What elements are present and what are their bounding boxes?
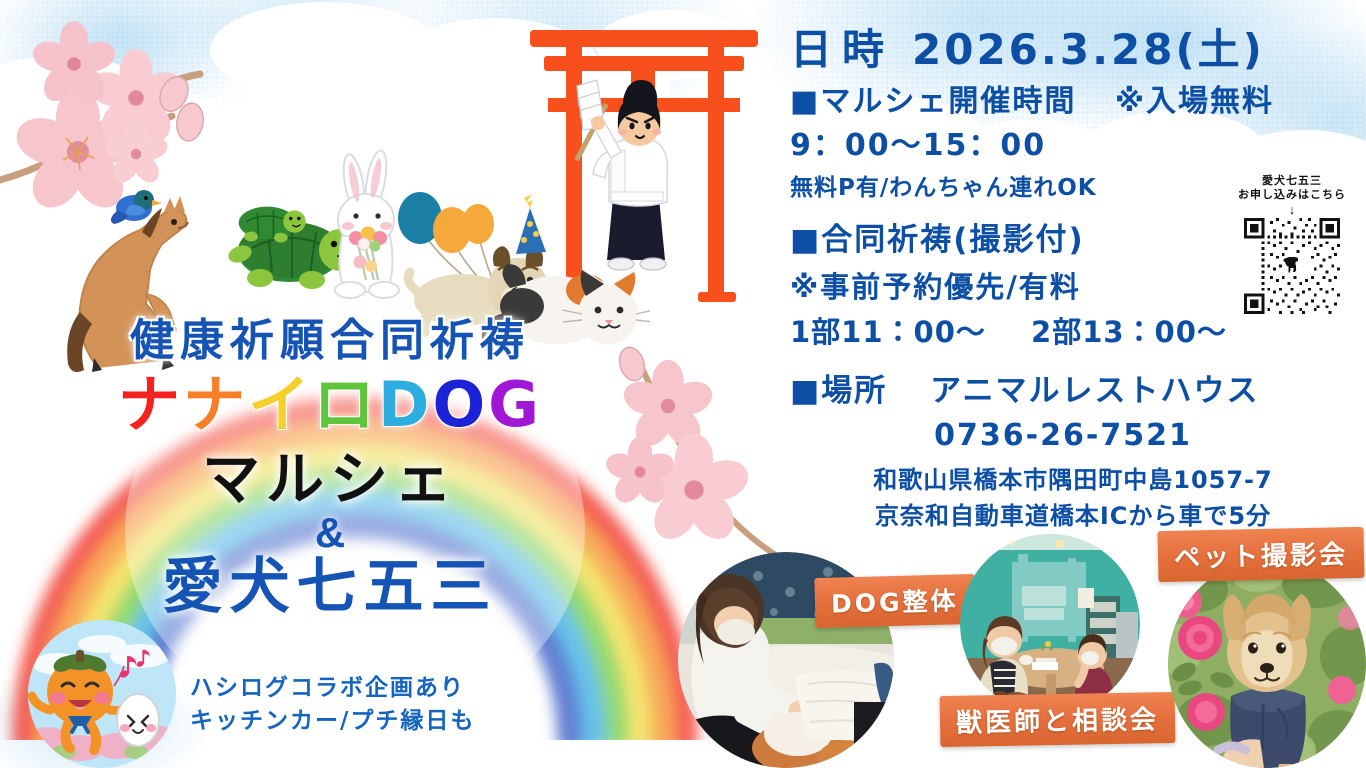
free-entry-note: ※入場無料 (1115, 84, 1274, 119)
qr-caption-line1: 愛犬七五三 (1228, 174, 1356, 188)
kito-parts-row: 1部11：00〜 2部13：00〜 (790, 312, 1366, 353)
ribbon-pet-photo: ペット撮影会 (1157, 527, 1364, 582)
marche-heading-row: ■マルシェ開催時間 ※入場無料 (790, 80, 1366, 124)
datetime-label: 日時 (790, 25, 894, 74)
kito-part1: 1部11：00〜 (790, 315, 986, 349)
qr-code-block[interactable]: 愛犬七五三 お申し込みはこちら ↓ (1228, 174, 1356, 314)
title-nanairo-dog: ナナイロDOG (0, 374, 660, 436)
ribbon-vet-consult: 獣医師と相談会 (940, 692, 1176, 747)
collab-note: ハシログコラボ企画あり キッチンカー/プチ縁日も (190, 672, 475, 739)
collab-note-line2: キッチンカー/プチ縁日も (190, 705, 475, 738)
title-kenkou-kigan: 健康祈願合同祈祷 (0, 318, 660, 364)
place-name: アニマルレストハウス (930, 373, 1259, 409)
nanairo-char-0: ナ (118, 368, 183, 441)
place-row: ■場所 アニマルレストハウス (790, 369, 1366, 414)
nanairo-char-5: O (432, 368, 488, 441)
telephone-number: 0736-26-7521 (790, 416, 1366, 455)
nanairo-char-1: ナ (183, 368, 248, 441)
place-label: ■場所 (790, 373, 887, 409)
qr-caption-line2: お申し込みはこちら (1228, 188, 1356, 202)
datetime-value: 2026.3.28(土) (912, 25, 1265, 74)
kito-part2: 2部13：00〜 (1031, 315, 1227, 349)
marche-heading: ■マルシェ開催時間 (790, 84, 1076, 119)
ribbon-dog-seitai: DOG整体 (814, 574, 975, 628)
main-title-block: 健康祈願合同祈祷 ナナイロDOG マルシェ & 愛犬七五三 (0, 318, 660, 619)
mascot-badge (28, 620, 176, 768)
photo-vet-consult (960, 534, 1140, 714)
nanairo-char-3: ロ (313, 368, 378, 441)
photo-pet-photo-session (1168, 560, 1366, 768)
title-ampersand: & (0, 512, 660, 554)
qr-code-image[interactable] (1244, 218, 1340, 314)
event-poster: 健康祈願合同祈祷 ナナイロDOG マルシェ & 愛犬七五三 ハシログコラボ企画あ… (0, 0, 1366, 768)
nanairo-char-4: D (378, 368, 432, 441)
nanairo-char-6: G (488, 368, 542, 441)
nanairo-char-2: イ (248, 368, 313, 441)
address-line: 和歌山県橋本市隅田町中島1057-7 (790, 463, 1366, 498)
title-marche: マルシェ (0, 450, 660, 508)
collab-note-line1: ハシログコラボ企画あり (190, 672, 475, 705)
datetime-row: 日時2026.3.28(土) (790, 26, 1366, 74)
down-arrow-icon: ↓ (1228, 203, 1356, 216)
marche-hours: 9：00〜15：00 (790, 126, 1366, 167)
title-aiken-shichigosan: 愛犬七五三 (0, 556, 660, 619)
